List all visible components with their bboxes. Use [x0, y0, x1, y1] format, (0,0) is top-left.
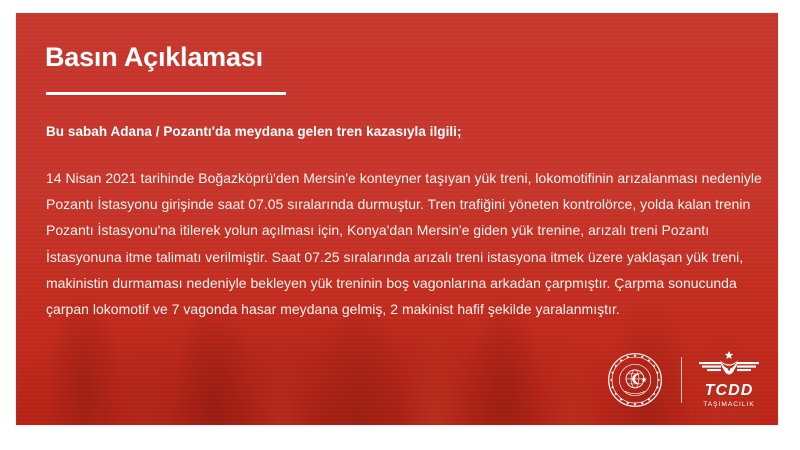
body-paragraph: 14 Nisan 2021 tarihinde Boğazköprü'den M…: [46, 165, 762, 322]
title-underline-rule: [46, 92, 286, 95]
screenshot-root: Basın Açıklaması Bu sabah Adana / Pozant…: [0, 0, 800, 450]
page-title: Basın Açıklaması: [45, 42, 263, 73]
tcdd-wordmark: TCDD: [705, 383, 754, 399]
tcdd-subtitle: TAŞIMACILIK: [703, 402, 755, 409]
lead-paragraph: Bu sabah Adana / Pozantı'da meydana gele…: [46, 124, 462, 139]
body-text: 14 Nisan 2021 tarihinde Boğazköprü'den M…: [46, 165, 762, 322]
press-release-card: Basın Açıklaması Bu sabah Adana / Pozant…: [16, 13, 778, 425]
card-content: Basın Açıklaması Bu sabah Adana / Pozant…: [16, 13, 778, 425]
logo-divider: [681, 357, 682, 403]
ministry-of-transport-seal-icon: [607, 352, 663, 408]
tcdd-winged-wheel-icon: [698, 351, 760, 381]
tcdd-logo: TCDD TAŞIMACILIK: [698, 351, 760, 408]
footer-logos: TCDD TAŞIMACILIK: [607, 349, 760, 411]
